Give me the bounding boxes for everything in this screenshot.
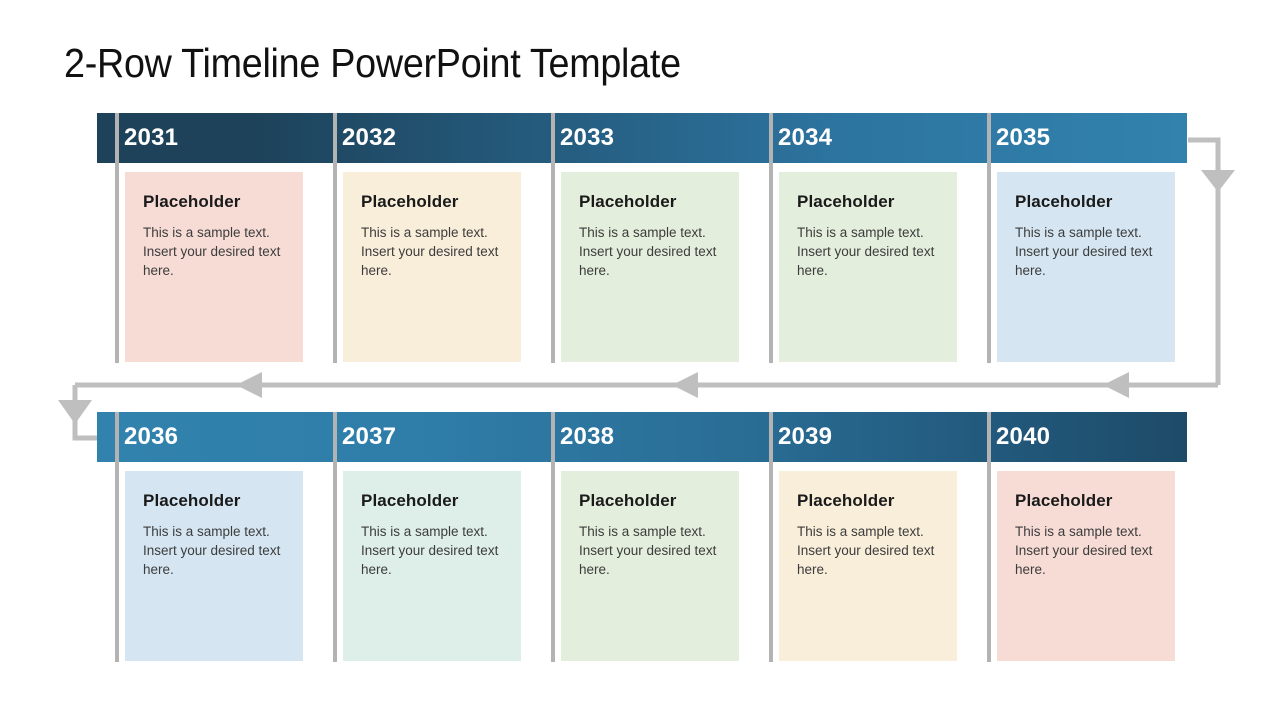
year-label: 2031: [124, 124, 178, 152]
year-label: 2036: [124, 423, 178, 451]
card-body: This is a sample text. Insert your desir…: [579, 522, 721, 579]
year-label: 2039: [778, 423, 832, 451]
card-body: This is a sample text. Insert your desir…: [1015, 223, 1157, 280]
placeholder-card[interactable]: Placeholder This is a sample text. Inser…: [561, 471, 739, 661]
arrowhead-left-1: [1103, 372, 1129, 398]
timeline-column-2033[interactable]: 2033: [533, 113, 751, 163]
placeholder-card[interactable]: Placeholder This is a sample text. Inser…: [125, 471, 303, 661]
placeholder-card[interactable]: Placeholder This is a sample text. Inser…: [343, 172, 521, 362]
card-title: Placeholder: [361, 491, 503, 511]
placeholder-card[interactable]: Placeholder This is a sample text. Inser…: [561, 172, 739, 362]
arrowhead-down-left: [58, 400, 92, 424]
card-title: Placeholder: [143, 491, 285, 511]
card-title: Placeholder: [1015, 192, 1157, 212]
timeline-column-2038[interactable]: 2038: [533, 412, 751, 462]
placeholder-card[interactable]: Placeholder This is a sample text. Inser…: [997, 172, 1175, 362]
placeholder-card[interactable]: Placeholder This is a sample text. Inser…: [343, 471, 521, 661]
card-title: Placeholder: [361, 192, 503, 212]
card-body: This is a sample text. Insert your desir…: [361, 223, 503, 280]
card-body: This is a sample text. Insert your desir…: [797, 522, 939, 579]
year-label: 2037: [342, 423, 396, 451]
placeholder-card[interactable]: Placeholder This is a sample text. Inser…: [779, 172, 957, 362]
year-label: 2038: [560, 423, 614, 451]
year-label: 2035: [996, 124, 1050, 152]
card-title: Placeholder: [797, 192, 939, 212]
card-body: This is a sample text. Insert your desir…: [1015, 522, 1157, 579]
timeline-column-2032[interactable]: 2032: [315, 113, 533, 163]
year-label: 2033: [560, 124, 614, 152]
card-title: Placeholder: [1015, 491, 1157, 511]
timeline-cards-1: Placeholder This is a sample text. Inser…: [97, 163, 1187, 363]
year-label: 2034: [778, 124, 832, 152]
timeline-header-bar-1: 2031 2032 2033 2034 2035: [97, 113, 1187, 163]
timeline-cards-2: Placeholder This is a sample text. Inser…: [97, 462, 1187, 662]
page-title: 2-Row Timeline PowerPoint Template: [64, 40, 681, 87]
card-body: This is a sample text. Insert your desir…: [143, 223, 285, 280]
card-body: This is a sample text. Insert your desir…: [579, 223, 721, 280]
card-body: This is a sample text. Insert your desir…: [797, 223, 939, 280]
card-body: This is a sample text. Insert your desir…: [361, 522, 503, 579]
card-column: Placeholder This is a sample text. Inser…: [751, 462, 969, 662]
arrowhead-left-2: [672, 372, 698, 398]
card-body: This is a sample text. Insert your desir…: [143, 522, 285, 579]
card-column: Placeholder This is a sample text. Inser…: [97, 462, 315, 662]
timeline-header-bar-2: 2036 2037 2038 2039 2040: [97, 412, 1187, 462]
card-column: Placeholder This is a sample text. Inser…: [97, 163, 315, 363]
card-title: Placeholder: [143, 192, 285, 212]
card-title: Placeholder: [579, 192, 721, 212]
card-column: Placeholder This is a sample text. Inser…: [751, 163, 969, 363]
timeline-column-2034[interactable]: 2034: [751, 113, 969, 163]
placeholder-card[interactable]: Placeholder This is a sample text. Inser…: [997, 471, 1175, 661]
placeholder-card[interactable]: Placeholder This is a sample text. Inser…: [779, 471, 957, 661]
year-label: 2032: [342, 124, 396, 152]
year-label: 2040: [996, 423, 1050, 451]
placeholder-card[interactable]: Placeholder This is a sample text. Inser…: [125, 172, 303, 362]
card-column: Placeholder This is a sample text. Inser…: [533, 163, 751, 363]
card-title: Placeholder: [797, 491, 939, 511]
timeline-column-2040[interactable]: 2040: [969, 412, 1187, 462]
timeline-column-2035[interactable]: 2035: [969, 113, 1187, 163]
timeline-row-1: 2031 2032 2033 2034 2035: [97, 113, 1187, 163]
card-column: Placeholder This is a sample text. Inser…: [969, 462, 1187, 662]
arrowhead-left-3: [236, 372, 262, 398]
timeline-column-2039[interactable]: 2039: [751, 412, 969, 462]
arrowhead-down-right: [1201, 170, 1235, 192]
timeline-column-2037[interactable]: 2037: [315, 412, 533, 462]
card-column: Placeholder This is a sample text. Inser…: [969, 163, 1187, 363]
card-column: Placeholder This is a sample text. Inser…: [315, 163, 533, 363]
slide-canvas: 2-Row Timeline PowerPoint Template: [0, 0, 1280, 720]
timeline-column-2031[interactable]: 2031: [97, 113, 315, 163]
timeline-row-2: 2036 2037 2038 2039 2040: [97, 412, 1187, 462]
card-column: Placeholder This is a sample text. Inser…: [533, 462, 751, 662]
timeline-column-2036[interactable]: 2036: [97, 412, 315, 462]
card-title: Placeholder: [579, 491, 721, 511]
card-column: Placeholder This is a sample text. Inser…: [315, 462, 533, 662]
